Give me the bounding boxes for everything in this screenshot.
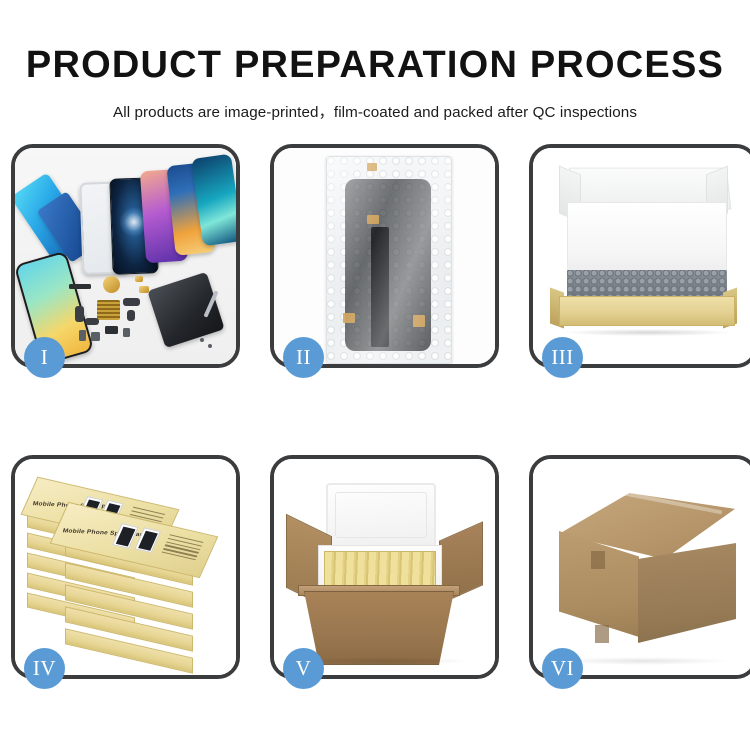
gold-bracket	[135, 276, 143, 282]
tape-tab-3	[413, 315, 425, 327]
wrapped-flex-cable	[371, 227, 389, 347]
small-chip-1	[79, 330, 86, 341]
white-foam-sheet	[567, 202, 727, 274]
process-step-1: I	[11, 144, 240, 368]
phone-backplate-open	[147, 272, 225, 348]
step-5-badge: V	[283, 648, 324, 689]
carton-body	[304, 591, 454, 665]
small-chip-4	[123, 328, 130, 337]
step-4-badge: IV	[24, 648, 65, 689]
step-1-badge: I	[24, 337, 65, 378]
process-step-grid: I II	[11, 144, 739, 674]
tape-tab-4	[367, 163, 377, 171]
process-step-3: III	[529, 144, 750, 368]
carton-tape-lower	[595, 625, 609, 643]
flex-cable-1	[75, 306, 84, 322]
step-5-image	[274, 459, 495, 675]
gold-bracket-2	[139, 286, 149, 293]
carton-tape-upper	[591, 551, 605, 569]
step-2-badge: II	[283, 337, 324, 378]
yellow-boxes-inside	[324, 551, 436, 587]
front-box-screen-image-1	[112, 523, 139, 549]
foam-boxing-illustration	[533, 148, 750, 364]
gold-coil-part	[103, 276, 120, 293]
step-3-image	[533, 148, 750, 364]
box-drop-shadow	[565, 329, 731, 336]
flex-cable-2	[85, 318, 99, 325]
process-step-6: VI	[529, 455, 750, 679]
small-chip-3	[105, 326, 118, 334]
page-title: PRODUCT PREPARATION PROCESS	[0, 46, 750, 84]
gold-connector-grid	[97, 300, 120, 320]
process-step-2: II	[270, 144, 499, 368]
process-step-5: V	[270, 455, 499, 679]
step-2-image	[274, 148, 495, 364]
product-preparation-infographic: PRODUCT PREPARATION PROCESS All products…	[0, 0, 750, 750]
step-3-badge: III	[542, 337, 583, 378]
page-subtitle: All products are image-printed，film-coat…	[0, 100, 750, 122]
step-4-image: Mobile Phone Spare Parts	[15, 459, 236, 675]
flex-cable-3	[123, 298, 140, 306]
screw-1	[200, 338, 204, 342]
step-1-image	[15, 148, 236, 364]
step-6-badge: VI	[542, 648, 583, 689]
carton-loading-illustration	[274, 459, 495, 675]
bubble-wrap-bag	[326, 156, 452, 364]
sealed-carton-illustration	[533, 459, 750, 675]
grey-bubble-wrap-layer	[567, 270, 727, 298]
tape-tab-1	[367, 215, 379, 224]
stacked-boxes-illustration: Mobile Phone Spare Parts	[15, 459, 236, 675]
carton-right-face	[638, 543, 736, 643]
phones-and-parts-illustration	[15, 148, 236, 364]
tape-tab-2	[343, 313, 355, 323]
flex-cable-4	[127, 310, 135, 321]
bubble-wrapped-screen-illustration	[274, 148, 495, 364]
screw-2	[208, 344, 212, 348]
step-6-image	[533, 459, 750, 675]
kraft-tray-front	[559, 296, 735, 326]
small-chip-2	[91, 332, 100, 341]
speaker-part	[69, 284, 91, 289]
process-step-4: Mobile Phone Spare Parts	[11, 455, 240, 679]
styrofoam-lid	[326, 483, 436, 547]
front-box-checklist	[160, 534, 203, 562]
header: PRODUCT PREPARATION PROCESS All products…	[0, 0, 750, 122]
